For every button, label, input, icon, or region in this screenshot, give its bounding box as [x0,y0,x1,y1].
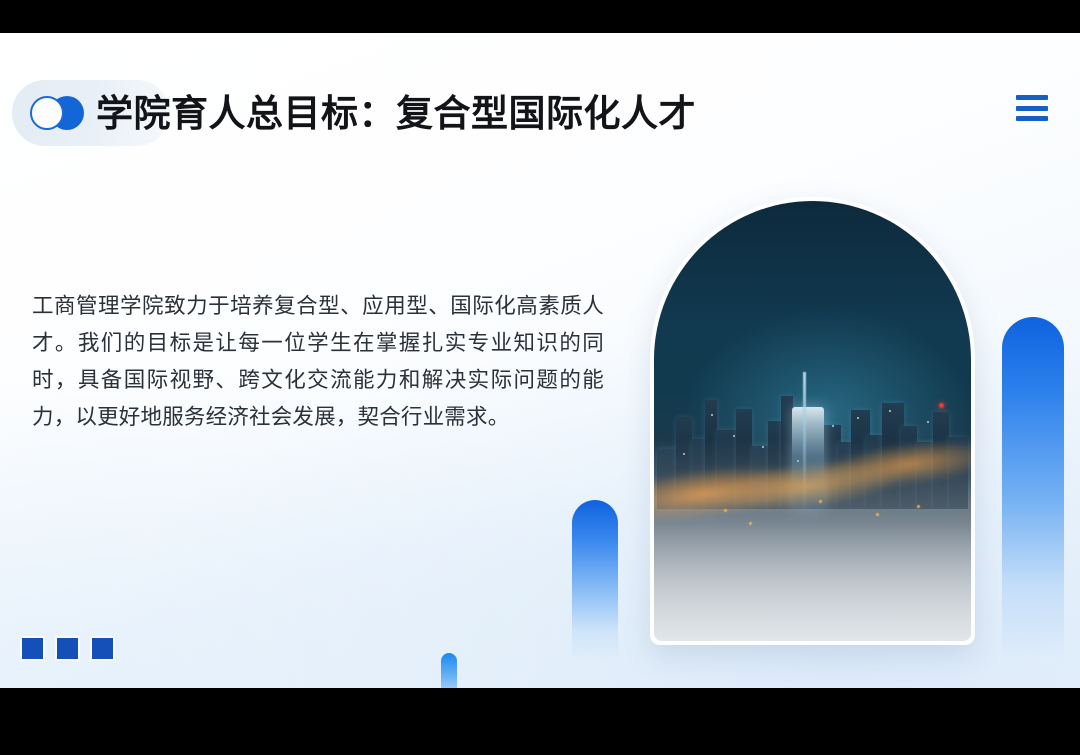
presentation-slide: 学院育人总目标：复合型国际化人才 工商管理学院致力于培养复合型、应用型、国际化高… [0,33,1080,688]
menu-bar-2 [1016,106,1048,111]
overlapping-circles-icon [30,96,84,130]
night-city-skyline-arch-photo [650,197,975,645]
letterbox-top-bar [0,0,1080,33]
blue-gradient-pill-small [441,653,457,688]
hamburger-menu-icon[interactable] [1016,95,1048,121]
letterbox-bottom-bar [0,688,1080,755]
menu-bar-3 [1016,116,1048,121]
blue-gradient-pill-large [1002,317,1064,659]
menu-bar-1 [1016,95,1048,100]
arch-photo-inner [654,201,971,641]
three-squares-icon[interactable] [22,638,113,659]
fog-haze-layer [654,439,971,641]
page-title: 学院育人总目标：复合型国际化人才 [96,95,696,132]
slide-body-text: 工商管理学院致力于培养复合型、应用型、国际化高素质人才。我们的目标是让每一位学生… [32,288,604,436]
square-marker-2 [57,638,78,659]
square-marker-1 [22,638,43,659]
slide-viewer: 学院育人总目标：复合型国际化人才 工商管理学院致力于培养复合型、应用型、国际化高… [0,0,1080,755]
square-marker-3 [92,638,113,659]
slide-title-row: 学院育人总目标：复合型国际化人才 [12,80,696,146]
blue-gradient-pill-medium [572,500,618,660]
